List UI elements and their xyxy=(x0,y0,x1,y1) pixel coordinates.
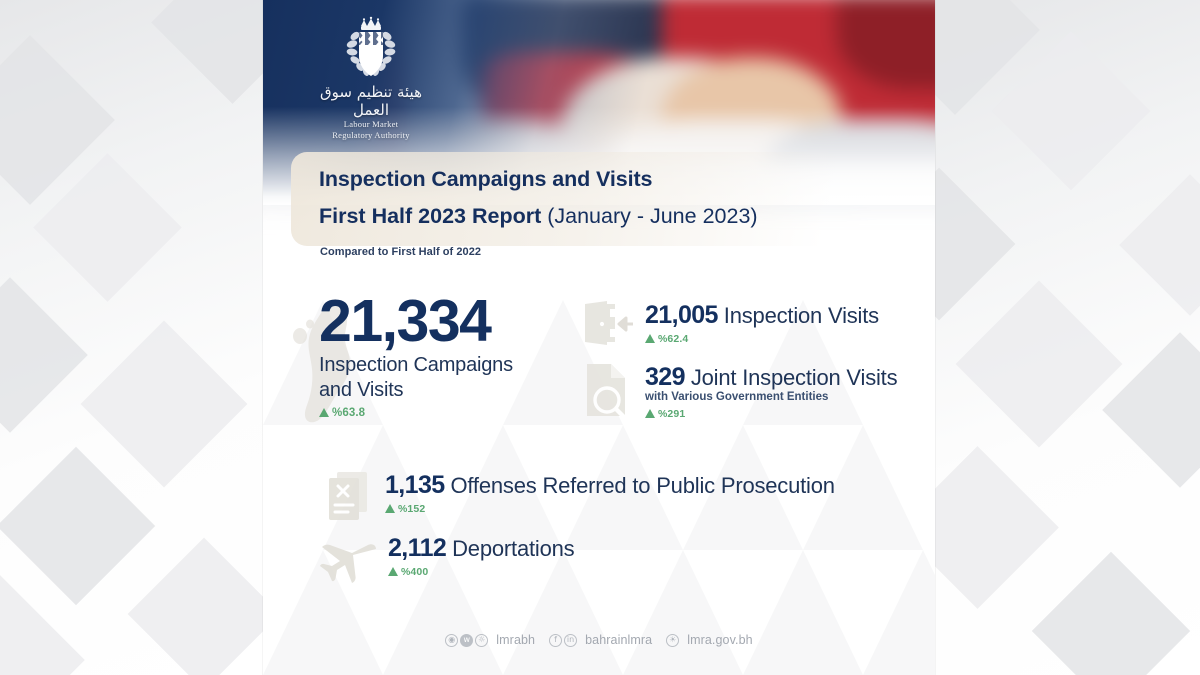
stat-body: 2,112 Deportations %400 xyxy=(388,533,574,581)
stat-sublabel: with Various Government Entities xyxy=(645,390,897,404)
decorative-diamond xyxy=(81,321,248,488)
logo-english-line1: Labour Market xyxy=(305,119,437,130)
stat-value: 1,135 xyxy=(385,471,445,499)
hero-label-line1: Inspection Campaigns xyxy=(319,353,573,378)
stat-line: 2,112 Deportations xyxy=(388,535,574,562)
decorative-diamond xyxy=(1032,552,1190,675)
arrow-up-icon xyxy=(645,334,655,343)
facebook-icon[interactable]: f xyxy=(549,634,562,647)
twitter-icon[interactable]: w xyxy=(460,634,473,647)
stat-delta-wrap: %400 xyxy=(388,563,574,581)
decorative-diamond xyxy=(0,447,155,605)
arrow-up-icon xyxy=(319,408,329,417)
bahrain-coat-of-arms-icon xyxy=(340,16,402,82)
stat-deportations: 2,112 Deportations %400 xyxy=(318,533,574,585)
report-subtitle: Compared to First Half of 2022 xyxy=(320,246,481,258)
lmra-logo: هيئة تنظيم سوق العمل Labour Market Regul… xyxy=(305,16,437,140)
infographic-stage: هيئة تنظيم سوق العمل Labour Market Regul… xyxy=(0,0,1200,675)
letterbox-left xyxy=(0,0,263,675)
stat-label: Inspection Visits xyxy=(724,303,879,328)
decorative-diamond xyxy=(1119,174,1200,315)
report-period-strong: First Half 2023 Report xyxy=(319,204,541,228)
social-icons: f in xyxy=(549,634,577,647)
stat-line: 1,135 Offenses Referred to Public Prosec… xyxy=(385,472,835,499)
hero-delta-value: %63.8 xyxy=(332,407,365,419)
stat-delta: %400 xyxy=(388,566,428,578)
stat-joint-inspection-visits: 329 Joint Inspection Visits with Various… xyxy=(581,362,897,423)
decorative-diamond xyxy=(935,168,1015,321)
snapchat-icon[interactable]: ☼ xyxy=(475,634,488,647)
stat-delta-value: %152 xyxy=(398,503,425,515)
stat-label: Joint Inspection Visits xyxy=(691,365,898,390)
stat-body: 1,135 Offenses Referred to Public Prosec… xyxy=(385,470,835,518)
violation-document-icon xyxy=(325,470,375,522)
decorative-diamond xyxy=(956,281,1123,448)
report-title-line2: First Half 2023 Report (January - June 2… xyxy=(319,202,851,231)
social-icons: ◉ w ☼ xyxy=(445,634,488,647)
stat-body: 21,005 Inspection Visits %62.4 xyxy=(645,300,879,348)
social-group-website: ☀ lmra.gov.bh xyxy=(666,633,752,647)
stat-value: 329 xyxy=(645,363,685,391)
stat-delta: %152 xyxy=(385,503,425,515)
social-handle[interactable]: lmrabh xyxy=(496,633,535,647)
stat-delta: %291 xyxy=(645,408,685,420)
arrow-up-icon xyxy=(645,409,655,418)
stat-delta-wrap: %291 xyxy=(645,405,897,423)
decorative-diamond xyxy=(935,446,1059,609)
social-group-lmrabh: ◉ w ☼ lmrabh xyxy=(445,633,535,647)
stat-label: Offenses Referred to Public Prosecution xyxy=(450,473,834,498)
hero-delta: %63.8 xyxy=(319,407,365,419)
stat-delta-value: %291 xyxy=(658,408,685,420)
hero-value: 21,334 xyxy=(293,292,573,350)
hero-label-line2: and Visits xyxy=(319,378,573,403)
hero-delta-wrap: %63.8 xyxy=(293,404,573,422)
arrow-up-icon xyxy=(388,567,398,576)
letterbox-right xyxy=(935,0,1200,675)
stat-label: Deportations xyxy=(452,536,574,561)
stat-body: 329 Joint Inspection Visits with Various… xyxy=(645,362,897,423)
stat-line: 329 Joint Inspection Visits xyxy=(645,364,897,391)
decorative-diamond xyxy=(1102,332,1200,488)
decorative-diamond xyxy=(151,0,263,104)
arrow-up-icon xyxy=(385,504,395,513)
hero-stat: 21,334 Inspection Campaigns and Visits %… xyxy=(293,292,573,422)
globe-icon[interactable]: ☀ xyxy=(666,634,679,647)
stat-value: 21,005 xyxy=(645,301,718,329)
stat-value: 2,112 xyxy=(388,534,446,562)
report-card: هيئة تنظيم سوق العمل Labour Market Regul… xyxy=(263,0,935,675)
decorative-diamond xyxy=(0,277,88,433)
decorative-diamond xyxy=(128,538,263,675)
decorative-diamond xyxy=(992,32,1150,190)
report-period-range: (January - June 2023) xyxy=(547,204,757,228)
stat-offenses-referred: 1,135 Offenses Referred to Public Prosec… xyxy=(325,470,835,522)
stat-delta-value: %62.4 xyxy=(658,333,688,345)
linkedin-icon[interactable]: in xyxy=(564,634,577,647)
stat-delta-wrap: %152 xyxy=(385,500,835,518)
social-footer: ◉ w ☼ lmrabh f in bahrainlmra ☀ lmra.gov… xyxy=(263,633,935,647)
stat-delta-value: %400 xyxy=(401,566,428,578)
social-handle[interactable]: bahrainlmra xyxy=(585,633,652,647)
instagram-icon[interactable]: ◉ xyxy=(445,634,458,647)
stat-delta-wrap: %62.4 xyxy=(645,330,879,348)
social-group-bahrainlmra: f in bahrainlmra xyxy=(549,633,652,647)
logo-english-line2: Regulatory Authority xyxy=(305,130,437,141)
stat-inspection-visits: 21,005 Inspection Visits %62.4 xyxy=(581,300,879,348)
report-title-line1: Inspection Campaigns and Visits xyxy=(319,165,851,194)
social-icons: ☀ xyxy=(666,634,679,647)
website-url[interactable]: lmra.gov.bh xyxy=(687,633,752,647)
stat-line: 21,005 Inspection Visits xyxy=(645,302,879,329)
title-panel: Inspection Campaigns and Visits First Ha… xyxy=(291,152,851,246)
document-magnifier-icon xyxy=(581,362,635,420)
airplane-icon xyxy=(318,533,378,585)
logo-arabic-name: هيئة تنظيم سوق العمل xyxy=(305,83,437,119)
stat-delta: %62.4 xyxy=(645,333,688,345)
hero-label: Inspection Campaigns and Visits xyxy=(293,353,573,403)
door-exit-arrow-icon xyxy=(581,300,635,348)
